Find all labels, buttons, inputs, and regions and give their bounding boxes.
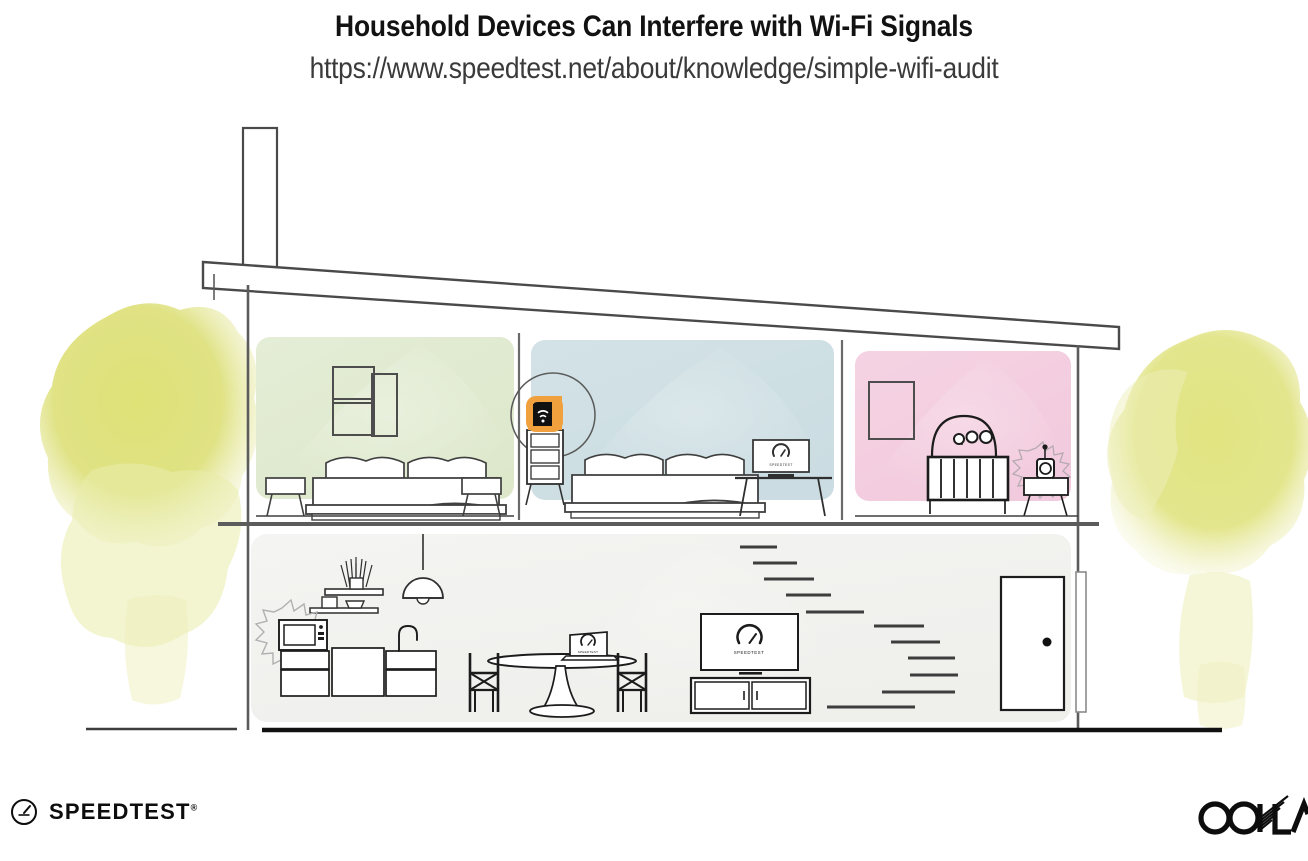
tree-left	[40, 303, 258, 704]
chimney	[243, 128, 277, 278]
monitor-speedtest: SPEEDTEST	[753, 440, 809, 477]
wifi-router-icon	[526, 396, 563, 432]
speedtest-brand-text: SPEEDTEST	[49, 799, 191, 824]
ookla-wordmark	[1196, 793, 1308, 843]
door-knob-icon	[1043, 638, 1052, 647]
front-door	[1001, 577, 1064, 710]
window-sidelight	[1076, 572, 1086, 712]
kitchen-counter	[281, 648, 436, 696]
roof	[203, 262, 1119, 349]
svg-text:SPEEDTEST: SPEEDTEST	[734, 650, 765, 655]
speedtest-wordmark: SPEEDTEST®	[49, 799, 197, 825]
speedtest-logo[interactable]: SPEEDTEST®	[10, 798, 197, 826]
tv-speedtest: SPEEDTEST	[701, 614, 798, 675]
tree-right	[1107, 330, 1308, 729]
svg-text:SPEEDTEST: SPEEDTEST	[578, 650, 599, 654]
media-console	[691, 678, 810, 713]
ookla-logo[interactable]	[1196, 793, 1308, 848]
crib	[928, 457, 1008, 514]
speedometer-icon	[10, 798, 38, 826]
speedtest-trademark: ®	[191, 803, 198, 813]
house-illustration: SPEEDTEST	[0, 0, 1308, 861]
svg-text:SPEEDTEST: SPEEDTEST	[769, 463, 792, 467]
